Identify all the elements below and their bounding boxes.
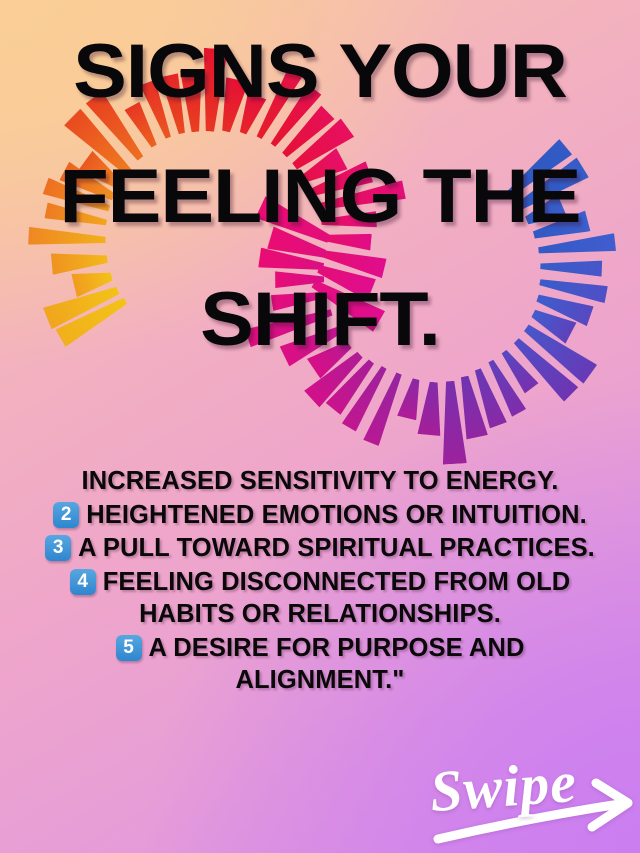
burst-ray <box>469 366 507 428</box>
list-item: INCREASED SENSITIVITY TO ENERGY. <box>4 468 636 495</box>
headline-line-1: SIGNS YOUR <box>0 34 640 109</box>
list-item-text: A DESIRE FOR PURPOSE AND <box>149 635 525 662</box>
list-item-text: HEIGHTENED EMOTIONS OR INTUITION. <box>86 502 587 529</box>
list-item-number-badge: 2 <box>53 502 79 528</box>
swipe-label: Swipe <box>428 748 579 825</box>
list-item-inner: INCREASED SENSITIVITY TO ENERGY. <box>82 468 559 495</box>
signs-list: INCREASED SENSITIVITY TO ENERGY.2HEIGHTE… <box>0 468 640 701</box>
burst-ray <box>438 380 467 464</box>
list-item-text: ALIGNMENT." <box>235 666 404 694</box>
list-item: 5A DESIRE FOR PURPOSE AND <box>4 635 636 662</box>
headline-line-2: FEELING THE <box>0 159 640 234</box>
list-item-continuation: ALIGNMENT." <box>4 667 636 694</box>
list-item: 3A PULL TOWARD SPIRITUAL PRACTICES. <box>4 535 636 562</box>
burst-ray <box>326 355 379 414</box>
list-item: 2HEIGHTENED EMOTIONS OR INTUITION. <box>4 502 636 529</box>
burst-ray <box>454 374 488 439</box>
list-item-inner: 5A DESIRE FOR PURPOSE AND <box>116 635 525 662</box>
list-item-number-badge: 3 <box>45 535 71 561</box>
list-item-text: A PULL TOWARD SPIRITUAL PRACTICES. <box>78 535 595 562</box>
list-item-inner: 4FEELING DISCONNECTED FROM OLD <box>70 569 571 596</box>
list-item-text: FEELING DISCONNECTED FROM OLD <box>103 569 571 596</box>
list-item-continuation: HABITS OR RELATIONSHIPS. <box>4 601 636 628</box>
headline: SIGNS YOUR FEELING THE SHIFT. <box>0 34 640 358</box>
poster-canvas: SIGNS YOUR FEELING THE SHIFT. INCREASED … <box>0 0 640 853</box>
list-item-text: HABITS OR RELATIONSHIPS. <box>139 600 501 628</box>
list-item-number-badge: 5 <box>116 635 142 661</box>
list-item-number-badge: 4 <box>70 569 96 595</box>
list-item-inner: 2HEIGHTENED EMOTIONS OR INTUITION. <box>53 502 587 529</box>
burst-ray <box>417 381 445 436</box>
swipe-cta[interactable]: Swipe <box>420 747 636 851</box>
burst-ray <box>363 370 407 446</box>
headline-line-3: SHIFT. <box>0 282 640 357</box>
list-item-inner: 3A PULL TOWARD SPIRITUAL PRACTICES. <box>45 535 595 562</box>
list-item: 4FEELING DISCONNECTED FROM OLD <box>4 569 636 596</box>
burst-ray <box>484 357 526 417</box>
list-item-text: INCREASED SENSITIVITY TO ENERGY. <box>82 468 559 495</box>
burst-ray <box>397 377 425 421</box>
burst-ray <box>342 363 391 431</box>
